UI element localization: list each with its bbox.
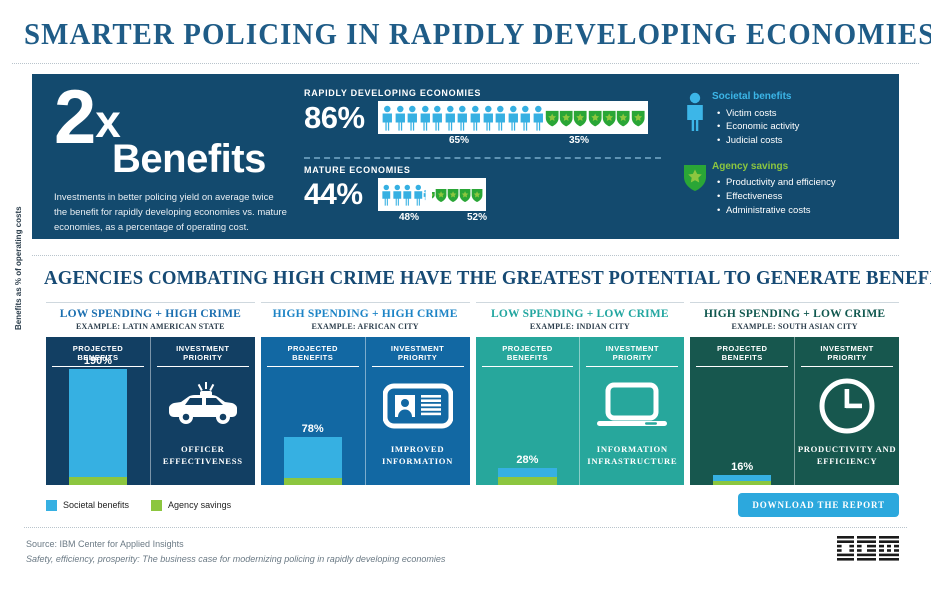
person-icon — [482, 105, 495, 131]
person-icon — [519, 105, 532, 131]
hero-big-number: 2 — [54, 75, 95, 160]
mature-row: 44% — [304, 178, 674, 211]
column-panel: PROJECTED BENEFITS28%INVESTMENT PRIORITY… — [476, 337, 685, 485]
mature-headline: 44% — [304, 180, 378, 210]
legend-societal-text: Societal benefits Victim costs Economic … — [712, 90, 799, 148]
shield-star-icon — [559, 108, 573, 128]
key-swatch-agency — [151, 500, 162, 511]
id-card-icon — [383, 382, 453, 430]
person-icon — [444, 105, 457, 131]
key-label-agency: Agency savings — [168, 500, 231, 510]
priority-label: IMPROVED INFORMATION — [366, 444, 470, 467]
shield-star-icon — [545, 108, 559, 128]
person-icon — [413, 182, 424, 208]
shield-star-icon — [435, 185, 447, 205]
laptop-icon — [595, 382, 669, 430]
legend-agency-text: Agency savings Productivity and efficien… — [712, 160, 836, 218]
priority-icon-wrap — [818, 376, 876, 436]
shield-star-icon — [459, 185, 471, 205]
priority-content: IMPROVED INFORMATION — [366, 363, 470, 481]
rde-row: 86% — [304, 101, 674, 134]
column-title: HIGH SPENDING + LOW CRIME — [690, 308, 899, 320]
comparison-column: LOW SPENDING + HIGH CRIMEEXAMPLE: LATIN … — [46, 302, 255, 485]
column-heading: LOW SPENDING + LOW CRIMEEXAMPLE: INDIAN … — [476, 302, 685, 331]
priority-content: INFORMATION INFRASTRUCTURE — [580, 363, 684, 481]
report-title: Safety, efficiency, prosperity: The busi… — [26, 552, 445, 566]
person-icon — [469, 105, 482, 131]
priority-label: PRODUCTIVITY AND EFFICIENCY — [795, 444, 899, 467]
priority-label: INFORMATION INFRASTRUCTURE — [580, 444, 684, 467]
shield-star-icon — [588, 108, 602, 128]
y-axis-label: Benefits as % of operating costs — [14, 206, 23, 330]
divider-section — [32, 255, 899, 256]
person-icon — [419, 105, 432, 131]
source-line: Source: IBM Center for Applied Insights — [26, 537, 445, 551]
column-title: LOW SPENDING + LOW CRIME — [476, 308, 685, 320]
shield-star-icon — [678, 160, 712, 218]
comparison-column: HIGH SPENDING + HIGH CRIMEEXAMPLE: AFRIC… — [261, 302, 470, 485]
bar-column: 190% — [69, 355, 127, 485]
bar-segment-agency — [713, 481, 771, 485]
stacked-bar — [498, 468, 556, 485]
hero-pictograms: RAPIDLY DEVELOPING ECONOMIES 86% 65% 35%… — [304, 74, 674, 239]
footer: Source: IBM Center for Applied Insights … — [26, 536, 907, 566]
column-subtitle: EXAMPLE: LATIN AMERICAN STATE — [46, 322, 255, 331]
column-title: LOW SPENDING + HIGH CRIME — [46, 308, 255, 320]
hero-description: Investments in better policing yield on … — [54, 191, 289, 235]
column-title: HIGH SPENDING + HIGH CRIME — [261, 308, 470, 320]
bar-segment-agency — [498, 477, 556, 485]
legend-item: Judicial costs — [721, 134, 799, 148]
legend-item: Productivity and efficiency — [721, 176, 836, 190]
column-subtitle: EXAMPLE: SOUTH ASIAN CITY — [690, 322, 899, 331]
legend-societal-heading: Societal benefits — [712, 90, 799, 105]
projected-benefits-half: PROJECTED BENEFITS78% — [261, 337, 366, 485]
rde-label: RAPIDLY DEVELOPING ECONOMIES — [304, 88, 674, 98]
bar-chart: 78% — [261, 359, 365, 485]
hero-left: 2x Benefits Investments in better polici… — [32, 74, 304, 239]
investment-priority-half: INVESTMENT PRIORITYPRODUCTIVITY AND EFFI… — [795, 337, 899, 485]
key-agency: Agency savings — [151, 500, 231, 511]
download-report-button[interactable]: DOWNLOAD THE REPORT — [738, 493, 899, 517]
rde-agency-pct: 35% — [569, 135, 589, 146]
column-panel: PROJECTED BENEFITS190%INVESTMENT PRIORIT… — [46, 337, 255, 485]
source-block: Source: IBM Center for Applied Insights … — [26, 537, 445, 566]
bar-chart: 28% — [476, 359, 580, 485]
bar-value-label: 28% — [516, 454, 538, 466]
infographic-page: SMARTER POLICING IN RAPIDLY DEVELOPING E… — [0, 0, 931, 610]
investment-priority-half: INVESTMENT PRIORITYOFFICER EFFECTIVENESS — [151, 337, 255, 485]
comparison-columns: LOW SPENDING + HIGH CRIMEEXAMPLE: LATIN … — [46, 302, 899, 485]
priority-icon-wrap — [383, 376, 453, 436]
legend-agency: Agency savings Productivity and efficien… — [678, 160, 899, 218]
investment-priority-half: INVESTMENT PRIORITYINFORMATION INFRASTRU… — [580, 337, 684, 485]
priority-content: PRODUCTIVITY AND EFFICIENCY — [795, 363, 899, 481]
priority-icon-wrap — [595, 376, 669, 436]
rde-icon-strip — [378, 101, 648, 134]
bar-column: 28% — [498, 454, 556, 485]
legend-societal: Societal benefits Victim costs Economic … — [678, 90, 899, 148]
comparison-column: HIGH SPENDING + LOW CRIMEEXAMPLE: SOUTH … — [690, 302, 899, 485]
person-icon — [431, 105, 444, 131]
column-panel: PROJECTED BENEFITS78%INVESTMENT PRIORITY… — [261, 337, 470, 485]
key-swatch-societal — [46, 500, 57, 511]
shield-star-icon — [471, 185, 483, 205]
stacked-bar — [284, 437, 342, 485]
stacked-bar — [69, 369, 127, 485]
shield-star-icon — [616, 108, 630, 128]
comparison-column: LOW SPENDING + LOW CRIMEEXAMPLE: INDIAN … — [476, 302, 685, 485]
page-title: SMARTER POLICING IN RAPIDLY DEVELOPING E… — [24, 18, 845, 49]
person-icon — [532, 105, 545, 131]
bar-segment-agency — [284, 478, 342, 485]
hero-benefits-word: Benefits — [112, 139, 304, 179]
stacked-bar — [713, 475, 771, 485]
bar-value-label: 78% — [302, 423, 324, 435]
priority-icon-wrap — [166, 376, 240, 436]
shield-star-icon — [631, 108, 645, 128]
legend-item: Administrative costs — [721, 204, 836, 218]
column-subtitle: EXAMPLE: AFRICAN CITY — [261, 322, 470, 331]
mature-subpercents: 48% 52% — [304, 211, 674, 227]
person-icon — [456, 105, 469, 131]
shield-star-icon — [447, 185, 459, 205]
bar-segment-societal — [284, 437, 342, 478]
bar-column: 78% — [284, 423, 342, 485]
projected-benefits-half: PROJECTED BENEFITS28% — [476, 337, 581, 485]
person-icon — [507, 105, 520, 131]
person-icon — [406, 105, 419, 131]
ibm-logo — [837, 536, 899, 566]
rde-societal-pct: 65% — [449, 135, 469, 146]
mature-societal-pct: 48% — [399, 212, 419, 223]
column-subtitle: EXAMPLE: INDIAN CITY — [476, 322, 685, 331]
mature-agency-pct: 52% — [467, 212, 487, 223]
key-label-societal: Societal benefits — [63, 500, 129, 510]
priority-content: OFFICER EFFECTIVENESS — [151, 363, 255, 481]
divider-top — [12, 63, 919, 64]
person-icon — [402, 182, 413, 208]
bar-value-label: 16% — [731, 461, 753, 473]
bar-segment-societal — [498, 468, 556, 477]
person-icon — [381, 182, 392, 208]
investment-priority-half: INVESTMENT PRIORITYIMPROVED INFORMATION — [366, 337, 470, 485]
shield-star-icon — [573, 108, 587, 128]
key-and-cta: Societal benefits Agency savings DOWNLOA… — [46, 493, 899, 517]
legend-item: Economic activity — [721, 120, 799, 134]
mature-icon-strip — [378, 178, 486, 211]
legend-item: Effectiveness — [721, 190, 836, 204]
bar-segment-agency — [69, 477, 127, 485]
divider-footer — [24, 527, 907, 528]
clock-icon — [818, 377, 876, 435]
hero-panel: 2x Benefits Investments in better polici… — [32, 74, 899, 239]
person-icon — [381, 105, 394, 131]
hero-legend: Societal benefits Victim costs Economic … — [674, 74, 899, 239]
column-heading: HIGH SPENDING + HIGH CRIMEEXAMPLE: AFRIC… — [261, 302, 470, 331]
legend-agency-heading: Agency savings — [712, 160, 836, 175]
hero-divider — [304, 157, 661, 159]
rde-subpercents: 65% 35% — [304, 134, 674, 150]
priority-label: OFFICER EFFECTIVENESS — [151, 444, 255, 467]
person-icon — [394, 105, 407, 131]
column-panel: PROJECTED BENEFITS16%INVESTMENT PRIORITY… — [690, 337, 899, 485]
person-icon — [678, 90, 712, 148]
projected-benefits-half: PROJECTED BENEFITS16% — [690, 337, 795, 485]
bar-column: 16% — [713, 461, 771, 485]
bar-chart: 190% — [46, 359, 150, 485]
projected-benefits-half: PROJECTED BENEFITS190% — [46, 337, 151, 485]
bar-segment-societal — [69, 369, 127, 477]
person-icon — [494, 105, 507, 131]
police-car-icon — [166, 382, 240, 430]
shield-star-icon — [602, 108, 616, 128]
legend-item: Victim costs — [721, 107, 799, 121]
person-icon — [392, 182, 403, 208]
bar-value-label: 190% — [84, 355, 112, 367]
mature-label: MATURE ECONOMIES — [304, 165, 674, 175]
column-heading: LOW SPENDING + HIGH CRIMEEXAMPLE: LATIN … — [46, 302, 255, 331]
column-heading: HIGH SPENDING + LOW CRIMEEXAMPLE: SOUTH … — [690, 302, 899, 331]
key-societal: Societal benefits — [46, 500, 129, 511]
bar-chart: 16% — [690, 359, 794, 485]
rde-headline: 86% — [304, 102, 378, 133]
section-title: AGENCIES COMBATING HIGH CRIME HAVE THE G… — [44, 268, 884, 290]
title-bar: SMARTER POLICING IN RAPIDLY DEVELOPING E… — [12, 0, 919, 55]
